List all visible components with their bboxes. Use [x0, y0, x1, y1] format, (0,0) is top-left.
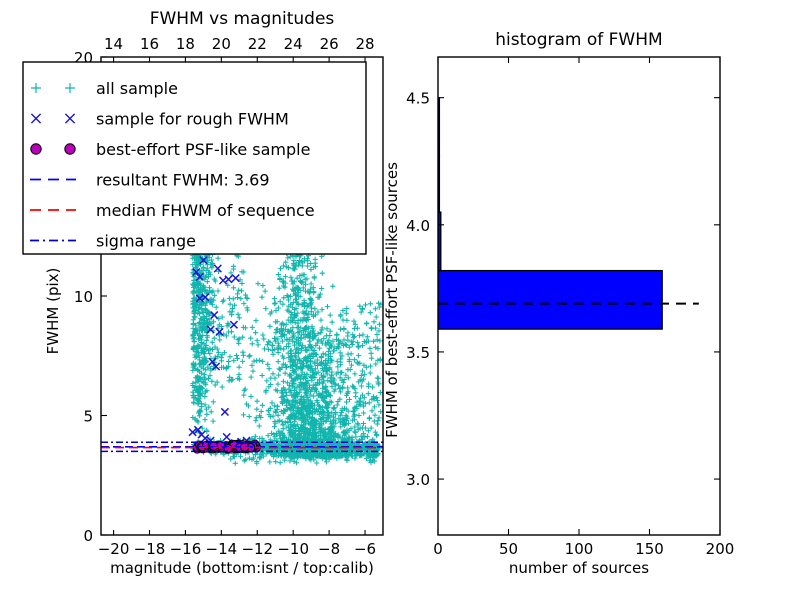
y-tick-label: 4.5 [406, 90, 430, 108]
histogram-bar [438, 271, 662, 330]
y-tick-label: 3.5 [406, 344, 430, 362]
left-panel-title: FWHM vs magnitudes [150, 9, 335, 29]
x-top-tick-label: 28 [355, 35, 374, 53]
right-y-axis-label: FWHM of best-effort PSF-like sources [383, 162, 401, 438]
legend: all samplesample for rough FWHMbest-effo… [23, 62, 366, 254]
left-y-axis-label: FWHM (pix) [44, 268, 62, 355]
x-top-tick-label: 26 [320, 35, 339, 53]
x-tick-label: 50 [499, 540, 518, 558]
x-tick-label: −20 [98, 540, 130, 558]
plot-svg: FWHM vs magnitudes −20−18−16−14−12−10−8−… [0, 0, 800, 600]
right-panel-title: histogram of FWHM [495, 30, 662, 50]
x-tick-label: 100 [565, 540, 594, 558]
legend-item-label: best-effort PSF-like sample [96, 140, 310, 159]
x-tick-label: −12 [241, 540, 273, 558]
x-tick-label: 200 [706, 540, 735, 558]
x-tick-label: −18 [134, 540, 166, 558]
x-top-tick-label: 20 [212, 35, 231, 53]
x-top-tick-label: 22 [248, 35, 267, 53]
x-top-tick-label: 18 [176, 35, 195, 53]
x-top-tick-label: 14 [104, 35, 123, 53]
x-tick-label: −8 [318, 540, 340, 558]
x-tick-label: −16 [170, 540, 202, 558]
x-top-tick-label: 16 [140, 35, 159, 53]
x-tick-label: 150 [635, 540, 664, 558]
y-tick-label: 0 [83, 527, 93, 545]
legend-item-label: sample for rough FWHM [96, 110, 289, 129]
legend-dot-icon [31, 144, 41, 154]
x-tick-label: −6 [354, 540, 376, 558]
legend-item-label: sigma range [96, 232, 196, 251]
right-x-axis-label: number of sources [509, 559, 649, 577]
legend-dot-icon [65, 144, 75, 154]
y-tick-label: 4.0 [406, 217, 430, 235]
y-tick-label: 5 [83, 408, 93, 426]
figure-canvas: FWHM vs magnitudes −20−18−16−14−12−10−8−… [0, 0, 800, 600]
y-tick-label: 10 [74, 288, 93, 306]
legend-item-label: median FHWM of sequence [96, 201, 315, 220]
x-tick-label: 0 [433, 540, 443, 558]
x-top-tick-label: 24 [284, 35, 303, 53]
legend-item-label: resultant FWHM: 3.69 [96, 171, 270, 190]
legend-item-label: all sample [96, 79, 178, 98]
x-tick-label: −10 [277, 540, 309, 558]
y-tick-label: 3.0 [406, 471, 430, 489]
x-tick-label: −14 [206, 540, 238, 558]
left-x-axis-label: magnitude (bottom:isnt / top:calib) [110, 559, 374, 577]
